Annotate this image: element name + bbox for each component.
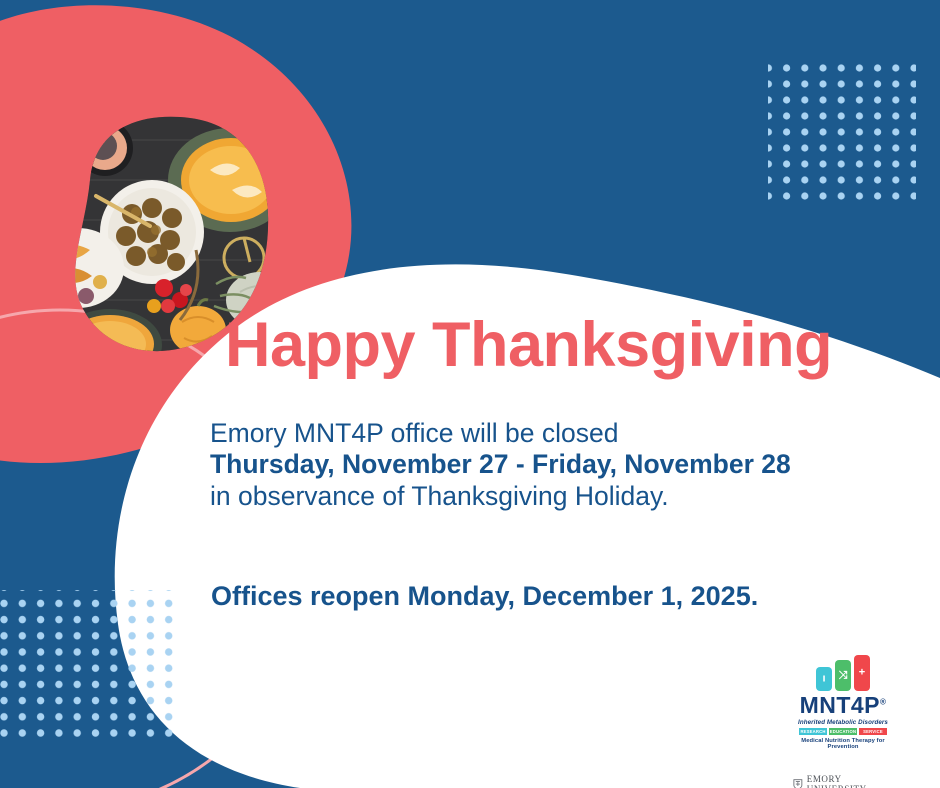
white-blob	[115, 264, 940, 788]
background-graphics	[0, 0, 940, 788]
dot-grid-bottom-left	[0, 590, 182, 738]
dot-grid-top-right	[768, 58, 916, 206]
thanksgiving-announcement-poster: Happy Thanksgiving Emory MNT4P office wi…	[0, 0, 940, 788]
